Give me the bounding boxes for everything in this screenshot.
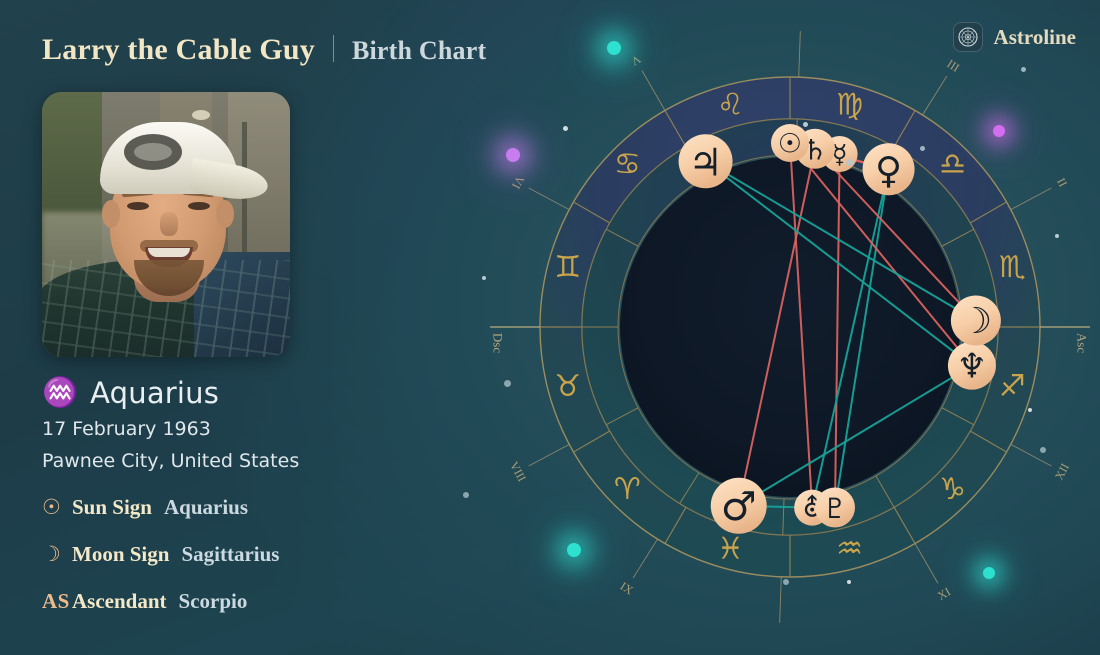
birth-date: 17 February 1963: [42, 418, 211, 440]
ascendant-icon: AS: [42, 591, 72, 612]
planet-marker-pluto[interactable]: ♇: [815, 487, 855, 527]
sun-sign-name: Aquarius: [90, 376, 219, 410]
moon-sign-value: Sagittarius: [181, 542, 279, 567]
house-numeral-II: II: [1054, 176, 1070, 190]
page-title: Larry the Cable Guy Birth Chart: [42, 32, 486, 67]
zodiac-glyph-cancer: ♋: [614, 147, 641, 182]
house-numeral-XII: XII: [1052, 461, 1072, 482]
house-extension-line: [1011, 188, 1052, 210]
ascendant-label: Ascendant: [72, 589, 167, 614]
zodiac-glyph-sagittarius: ♐: [999, 369, 1026, 404]
planet-glyph-mars: ♂: [721, 484, 757, 530]
planet-marker-jupiter[interactable]: ♃: [679, 134, 733, 188]
birth-place: Pawnee City, United States: [42, 450, 299, 472]
zodiac-glyph-scorpio: ♏: [999, 250, 1026, 285]
ascendant-value: Scorpio: [179, 589, 248, 614]
planet-marker-neptune[interactable]: ♆: [948, 342, 996, 390]
sun-icon: ☉: [42, 497, 72, 518]
planet-marker-sun[interactable]: ☉: [771, 124, 809, 162]
planet-glyph-venus: ♀: [875, 149, 902, 192]
profile-panel: Larry the Cable Guy Birth Chart: [0, 0, 440, 655]
screenshot-root: Larry the Cable Guy Birth Chart: [0, 0, 1100, 655]
planet-glyph-neptune: ♆: [957, 347, 987, 387]
planet-marker-mars[interactable]: ♂: [711, 478, 767, 534]
house-numeral-IX: IX: [618, 579, 636, 598]
house-extension-line: [780, 577, 782, 623]
attribute-row-ascendant: AS Ascendant Scorpio: [42, 589, 247, 614]
birth-chart-wheel[interactable]: ♏♎♍♌♋♊♉♈♓♒♑♐ IIIIIIVVVIVIIIIXXXIXII AscD…: [490, 27, 1090, 627]
house-numeral-VI: VI: [509, 174, 527, 192]
star-dot: [482, 276, 486, 280]
chart-kind-label: Birth Chart: [352, 36, 486, 66]
sun-sign-headline: ♒ Aquarius: [42, 376, 219, 410]
planet-glyph-jupiter: ♃: [689, 140, 723, 184]
zodiac-glyph-aquarius: ♒: [836, 532, 863, 567]
inner-disc: [620, 157, 960, 497]
planet-glyph-pluto: ♇: [822, 492, 847, 525]
chart-svg[interactable]: ♏♎♍♌♋♊♉♈♓♒♑♐ IIIIIIVVVIVIIIIXXXIXII AscD…: [490, 27, 1090, 627]
zodiac-glyph-pisces: ♓: [717, 532, 744, 567]
planet-glyph-moon: ☽: [960, 301, 992, 342]
house-extension-line: [529, 188, 570, 210]
house-extension-line: [1011, 444, 1052, 466]
aquarius-icon: ♒: [42, 379, 78, 408]
zodiac-glyph-gemini: ♊: [554, 250, 581, 285]
axis-label-dsc: Dsc: [491, 333, 506, 353]
attribute-row-sun-sign: ☉ Sun Sign Aquarius: [42, 495, 248, 520]
planet-marker-moon[interactable]: ☽: [951, 296, 1001, 346]
sun-sign-value: Aquarius: [164, 495, 248, 520]
zodiac-glyph-taurus: ♉: [554, 369, 581, 404]
attribute-row-moon-sign: ☽ Moon Sign Sagittarius: [42, 542, 279, 567]
zodiac-glyph-capricorn: ♑: [939, 472, 966, 507]
axis-label-asc: Asc: [1075, 333, 1090, 353]
planet-marker-venus[interactable]: ♀: [863, 143, 915, 195]
zodiac-glyph-aries: ♈: [614, 472, 641, 507]
portrait-photo: [42, 92, 290, 357]
house-numeral-V: V: [628, 52, 643, 69]
house-numeral-XI: XI: [935, 585, 953, 603]
house-extension-line: [915, 544, 938, 584]
house-numeral-VIII: VIII: [507, 459, 529, 484]
house-extension-line: [642, 71, 665, 111]
zodiac-glyph-virgo: ♍: [836, 87, 863, 122]
star-dot: [463, 492, 469, 498]
house-extension-line: [633, 539, 657, 578]
person-name: Larry the Cable Guy: [42, 33, 315, 67]
moon-icon: ☽: [42, 544, 72, 565]
zodiac-glyph-leo: ♌: [717, 87, 744, 122]
planet-glyph-sun: ☉: [778, 129, 802, 160]
moon-sign-label: Moon Sign: [72, 542, 169, 567]
zodiac-glyph-libra: ♎: [939, 147, 966, 182]
house-numeral-III: III: [944, 57, 962, 75]
house-extension-line: [529, 444, 570, 466]
house-extension-line: [922, 76, 946, 115]
title-divider: [333, 35, 334, 62]
house-extension-line: [799, 31, 801, 77]
sun-sign-label: Sun Sign: [72, 495, 152, 520]
